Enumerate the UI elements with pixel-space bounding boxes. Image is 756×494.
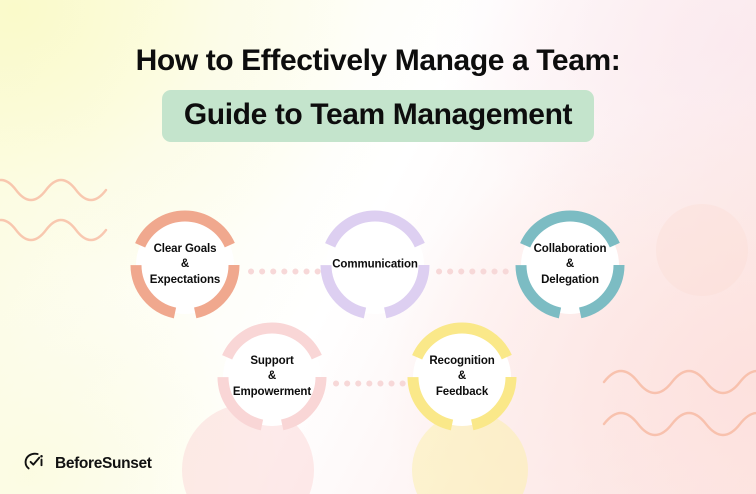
- node-label-recognition: Recognition & Feedback: [387, 354, 537, 400]
- arc-check-icon: [24, 452, 50, 475]
- node-label-collaboration: Collaboration & Delegation: [495, 242, 645, 288]
- node-support[interactable]: Support & Empowerment: [214, 319, 330, 435]
- infographic-canvas: How to Effectively Manage a Team: Guide …: [0, 0, 756, 494]
- node-recognition[interactable]: Recognition & Feedback: [404, 319, 520, 435]
- node-collaboration[interactable]: Collaboration & Delegation: [512, 207, 628, 323]
- node-label-support: Support & Empowerment: [197, 354, 347, 400]
- node-label-communication: Communication: [290, 257, 460, 272]
- brand-name: BeforeSunset: [55, 455, 152, 473]
- node-clear-goals[interactable]: Clear Goals & Expectations: [127, 207, 243, 323]
- team-management-diagram: Clear Goals & Expectations Communication…: [0, 0, 756, 494]
- node-label-clear-goals: Clear Goals & Expectations: [110, 242, 260, 288]
- node-communication[interactable]: Communication: [317, 207, 433, 323]
- brand-logo[interactable]: BeforeSunset: [24, 452, 152, 475]
